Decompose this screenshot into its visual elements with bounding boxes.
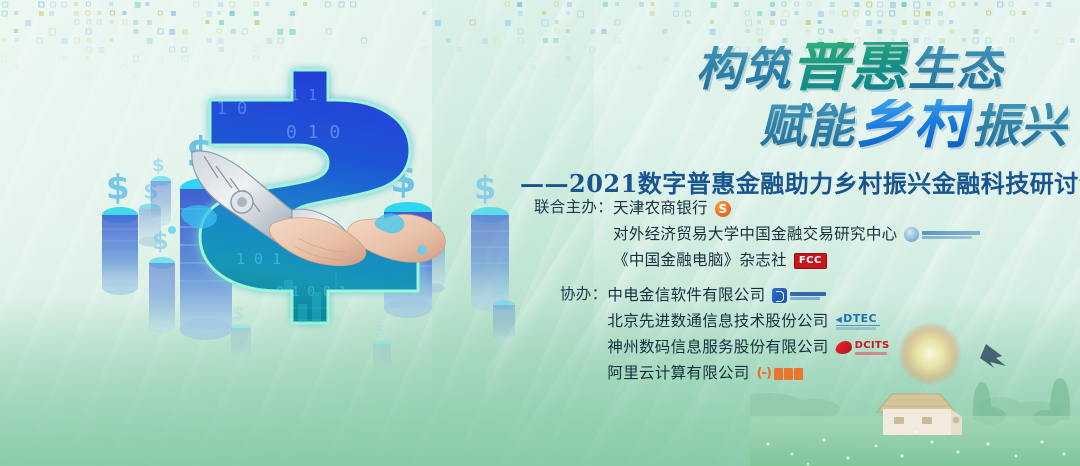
title-seg-zhenxing: 振兴: [972, 103, 1068, 150]
svg-text:1 0 1 1: 1 0 1 1: [254, 86, 317, 104]
uibe-logo: [904, 227, 980, 242]
cohost-row-1: 中电金信软件有限公司: [607, 285, 889, 306]
title-line-1: 构筑普惠生态: [520, 42, 1072, 93]
cohost-org-2: 北京先进数通信息技术股份公司: [607, 314, 828, 330]
cohost-group: 协办： 中电金信软件有限公司 北京先进数通信息技术股份公司 DTEC 神州数码信…: [534, 285, 980, 384]
cohost-label: 协办：: [534, 285, 607, 303]
dcits-logo-text: DCITS: [855, 341, 890, 351]
title-seg-gouzhu: 构筑: [695, 46, 791, 93]
credits-block: 联合主办： 天津农商银行 对外经济贸易大学中国金融交易研究中心 《中国金融电脑》…: [534, 198, 980, 398]
svg-text:$: $: [494, 275, 508, 299]
svg-text:$: $: [152, 155, 165, 176]
cetc-ginsoft-logo: [772, 288, 826, 303]
cohost-row-3: 神州数码信息服务股份有限公司 DCITS: [607, 337, 889, 358]
svg-text:1 0 1: 1 0 1: [236, 250, 281, 268]
svg-text:$: $: [374, 320, 385, 339]
host-org-3: 《中国金融电脑》杂志社: [613, 253, 787, 269]
aliyun-bracket-mark: (-): [757, 367, 771, 380]
host-row-2: 对外经济贸易大学中国金融交易研究中心: [613, 224, 980, 245]
dcits-logo: DCITS: [836, 341, 890, 355]
farmhouse: [877, 394, 962, 435]
title-seg-xiangcun: 乡村: [855, 99, 972, 148]
svg-text:0 1 0: 0 1 0: [196, 99, 247, 119]
title-seg-puhui: 普惠: [791, 42, 908, 91]
svg-text:0 1 0: 0 1 0: [286, 122, 340, 143]
host-row-1: 天津农商银行: [613, 198, 980, 219]
conference-banner: $ $ $: [0, 0, 1080, 466]
cohost-row-4: 阿里云计算有限公司 (-): [607, 363, 889, 384]
host-label: 联合主办：: [534, 198, 613, 216]
dtec-logo-text: DTEC: [836, 313, 877, 324]
host-org-2: 对外经济贸易大学中国金融交易研究中心: [613, 227, 897, 243]
host-org-1: 天津农商银行: [613, 201, 708, 217]
aliyun-logo: (-): [757, 367, 803, 380]
host-row-3: 《中国金融电脑》杂志社 FCC: [613, 250, 980, 271]
subtitle: ——2021数字普惠金融助力乡村振兴金融科技研讨会: [520, 164, 1072, 199]
svg-text:$: $: [474, 169, 496, 207]
title-line-2: 赋能乡村振兴: [520, 99, 1072, 150]
cohost-org-4: 阿里云计算有限公司: [607, 366, 749, 382]
svg-text:$: $: [152, 227, 169, 255]
fcc-logo: FCC: [794, 253, 827, 269]
cohost-org-3: 神州数码信息服务股份有限公司: [607, 340, 828, 356]
title-seg-shengtai: 生态: [908, 46, 1004, 93]
dtec-logo: DTEC: [836, 313, 880, 331]
swallow-bird: [980, 344, 1006, 368]
dollar-handshake-illustration: $ $ $: [86, 52, 536, 397]
host-group: 联合主办： 天津农商银行 对外经济贸易大学中国金融交易研究中心 《中国金融电脑》…: [534, 198, 980, 271]
title-seg-funeng: 赋能: [759, 103, 855, 150]
svg-text:$: $: [106, 168, 130, 208]
title-block: 构筑普惠生态 赋能乡村振兴 ——2021数字普惠金融助力乡村振兴金融科技研讨会: [520, 42, 1072, 199]
tianjin-rural-bank-logo: [715, 201, 731, 217]
fcc-logo-text: FCC: [794, 253, 827, 269]
cohost-org-1: 中电金信软件有限公司: [607, 288, 765, 304]
svg-text:$: $: [232, 303, 245, 324]
cohost-row-2: 北京先进数通信息技术股份公司 DTEC: [607, 311, 889, 332]
